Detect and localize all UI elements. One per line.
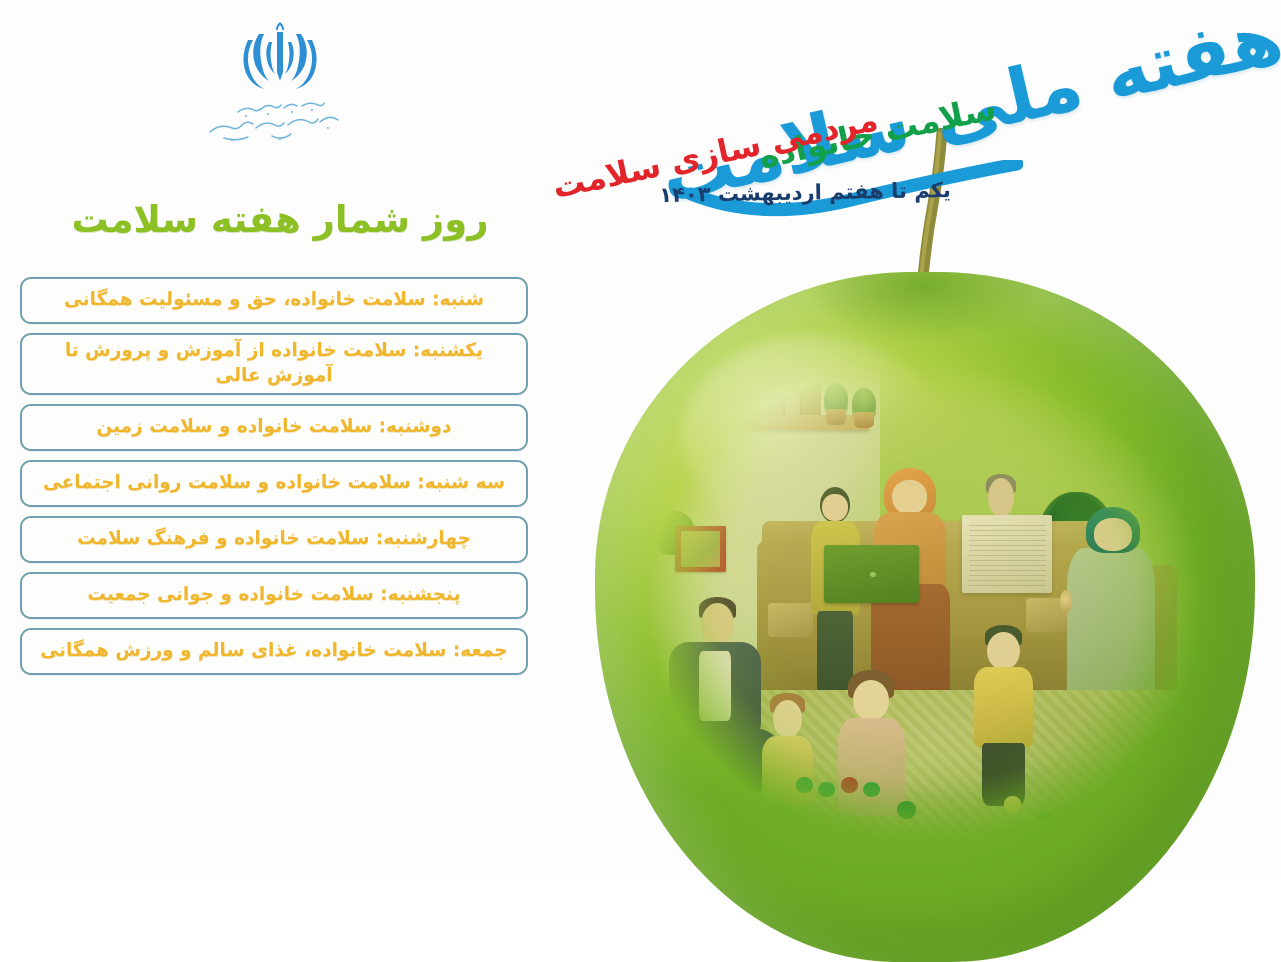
day-list-item-label: یکشنبه: سلامت خانواده از آموزش و پرورش ت… <box>36 339 512 389</box>
day-list-item[interactable]: دوشنبه: سلامت خانواده و سلامت زمین <box>20 404 528 451</box>
toy-ball <box>841 777 858 792</box>
toy-ball <box>796 777 813 792</box>
toy-ball <box>1004 796 1022 812</box>
day-list-item[interactable]: یکشنبه: سلامت خانواده از آموزش و پرورش ت… <box>20 333 528 395</box>
section-title: روز شمار هفته سلامت <box>0 198 560 241</box>
person-boy-walking <box>970 632 1037 806</box>
day-list-item-label: شنبه: سلامت خانواده، حق و مسئولیت همگانی <box>64 288 484 313</box>
day-list-item[interactable]: جمعه: سلامت خانواده، غذای سالم و ورزش هم… <box>20 628 528 675</box>
day-list-item[interactable]: شنبه: سلامت خانواده، حق و مسئولیت همگانی <box>20 277 528 324</box>
iran-emblem-icon <box>232 18 328 92</box>
poster-date-range: یکم تا هفتم اردیبهشت ۱۴۰۳ <box>659 178 951 207</box>
face <box>1094 518 1132 550</box>
health-week-poster: جمهوری اسلامی ایران وزارت بهداشت، درمان … <box>0 0 1281 879</box>
head <box>987 632 1019 670</box>
yarn-ball <box>1060 590 1072 613</box>
day-list-item-label: پنجشنبه: سلامت خانواده و جوانی جمعیت <box>87 583 460 608</box>
head <box>773 700 803 738</box>
shelf-pot <box>854 412 874 428</box>
family-living-room-scene <box>645 362 1206 845</box>
shirt <box>699 651 731 721</box>
ministry-logo-block: جمهوری اسلامی ایران وزارت بهداشت، درمان … <box>155 18 405 152</box>
day-list-item-label: سه شنبه: سلامت خانواده و سلامت روانی اجت… <box>43 471 505 496</box>
day-list-item[interactable]: چهارشنبه: سلامت خانواده و فرهنگ سلامت <box>20 516 528 563</box>
green-apple <box>595 272 1255 962</box>
torso <box>974 667 1033 747</box>
head <box>701 603 733 646</box>
laptop-icon <box>824 545 919 603</box>
person-grandfather <box>959 478 1054 642</box>
torso <box>762 736 814 806</box>
legs <box>982 743 1025 806</box>
head <box>988 478 1014 517</box>
torso <box>838 718 905 815</box>
day-list-item-label: چهارشنبه: سلامت خانواده و فرهنگ سلامت <box>77 527 471 552</box>
shelf-pot <box>826 409 846 425</box>
picture-frame <box>675 526 725 572</box>
left-column: جمهوری اسلامی ایران وزارت بهداشت، درمان … <box>0 0 560 879</box>
day-list-item-label: جمعه: سلامت خانواده، غذای سالم و ورزش هم… <box>40 639 507 664</box>
day-list-item-label: دوشنبه: سلامت خانواده و سلامت زمین <box>96 415 451 440</box>
apple-dimple <box>806 272 1044 341</box>
face <box>822 494 848 522</box>
header-calligraphy: هفته ملی سلامت سلامت خانواده مردمی سازی … <box>601 0 1281 235</box>
head <box>853 680 889 721</box>
apple-body <box>595 272 1255 962</box>
day-list: شنبه: سلامت خانواده، حق و مسئولیت همگانی… <box>20 277 528 684</box>
face <box>892 480 927 515</box>
toy-ball <box>897 801 916 818</box>
ministry-script-logotype <box>180 96 380 152</box>
day-list-item[interactable]: سه شنبه: سلامت خانواده و سلامت روانی اجت… <box>20 460 528 507</box>
bookshelf-books <box>703 379 821 416</box>
day-list-item[interactable]: پنجشنبه: سلامت خانواده و جوانی جمعیت <box>20 572 528 619</box>
newspaper <box>962 515 1052 592</box>
